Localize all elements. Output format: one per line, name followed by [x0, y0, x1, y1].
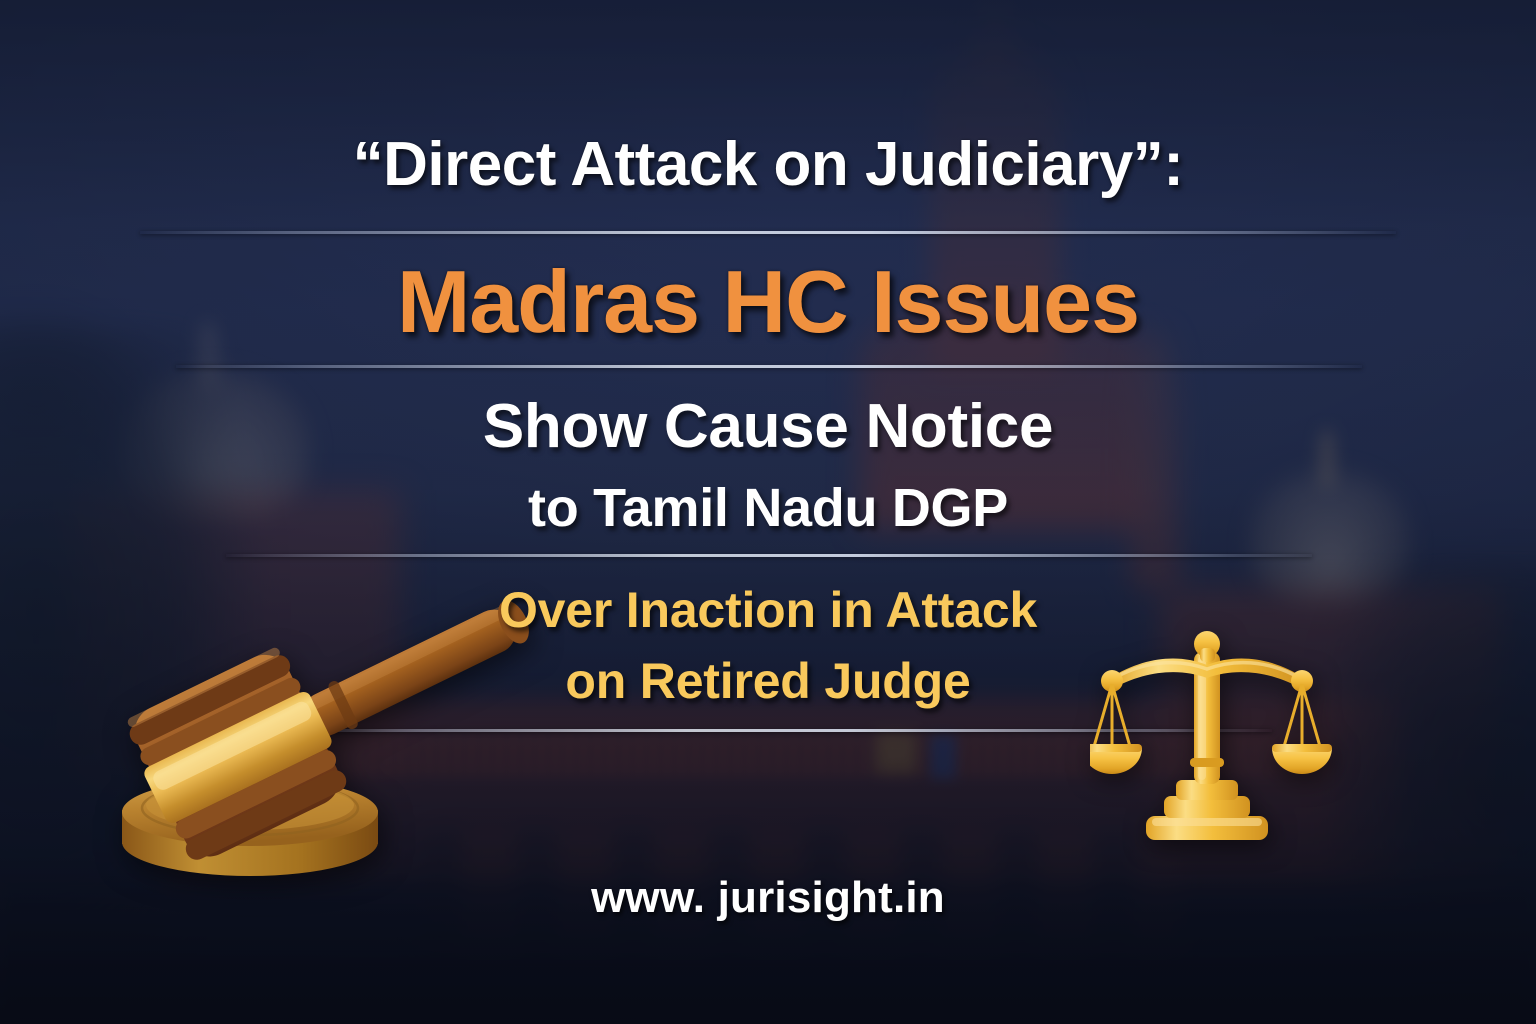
headline-quote: “Direct Attack on Judiciary”: — [0, 134, 1536, 196]
poster-text-content: “Direct Attack on Judiciary”: Madras HC … — [0, 0, 1536, 1024]
subhead-line-1: Show Cause Notice — [0, 396, 1536, 458]
detail-line-2: on Retired Judge — [0, 656, 1536, 706]
news-graphic-poster: “Direct Attack on Judiciary”: Madras HC … — [0, 0, 1536, 1024]
website-url[interactable]: www. jurisight.in — [0, 876, 1536, 920]
headline-main: Madras HC Issues — [0, 258, 1536, 346]
subhead-line-2: to Tamil Nadu DGP — [0, 481, 1536, 535]
detail-line-1: Over Inaction in Attack — [0, 585, 1536, 635]
